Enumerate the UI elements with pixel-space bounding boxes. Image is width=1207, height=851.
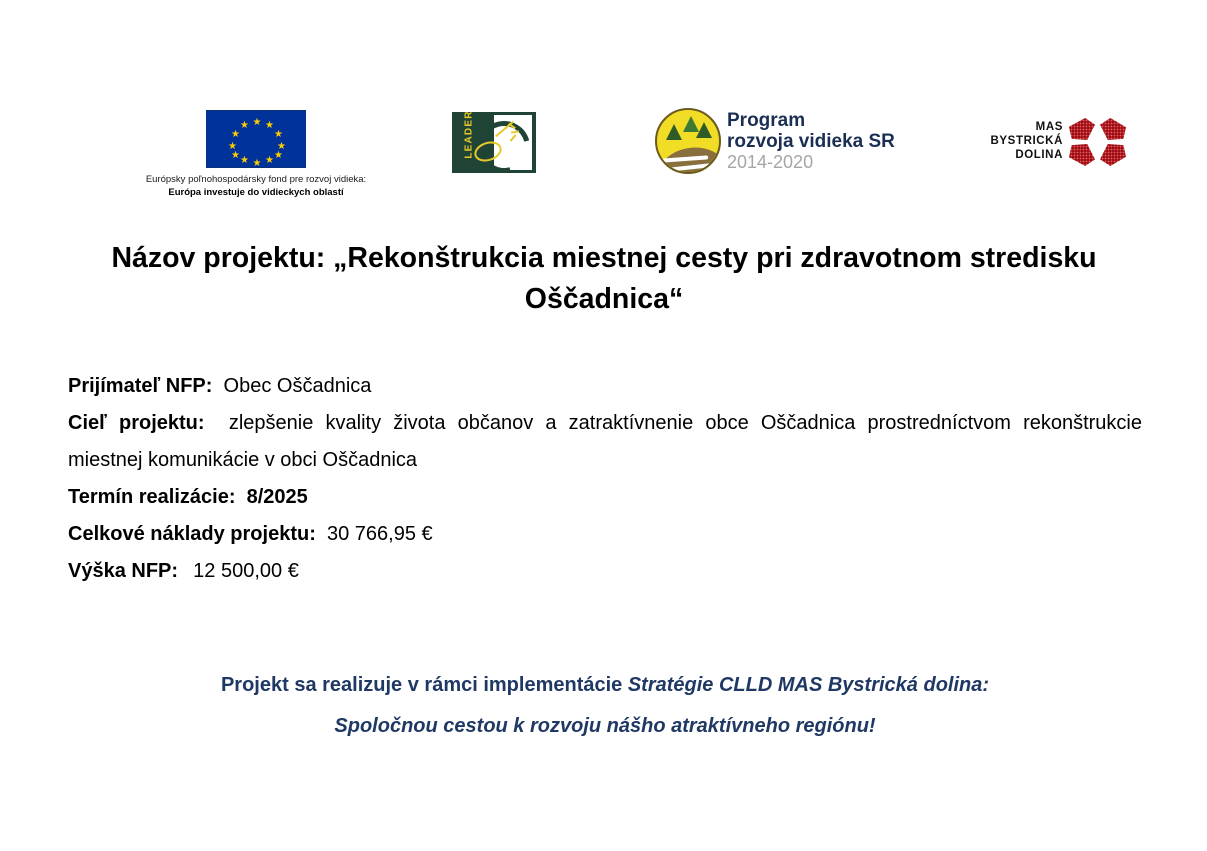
prv-field-shape	[655, 142, 721, 174]
total-cost-label: Celkové náklady projektu:	[68, 523, 321, 545]
prv-line3-years: 2014-2020	[727, 152, 895, 173]
prv-emblem-icon	[655, 108, 721, 174]
goal-value: zlepšenie kvality života občanov a zatra…	[68, 412, 1142, 471]
project-info-page: { "logos": { "eu": { "name": "eu-flag-lo…	[0, 0, 1207, 851]
page-title: Názov projektu: „Rekonštrukcia miestnej …	[68, 238, 1140, 320]
nfp-value: 12 500,00 €	[189, 560, 299, 582]
mas-wordmark: MAS BYSTRICKÁ DOLINA	[955, 120, 1063, 162]
eu-star-icon: ★	[240, 121, 249, 130]
total-cost-row: Celkové náklady projektu: 30 766,95 €	[68, 516, 1142, 553]
recipient-row: Prijímateľ NFP: Obec Oščadnica	[68, 368, 1142, 405]
recipient-value: Obec Oščadnica	[224, 375, 372, 397]
prv-wordmark: Program rozvoja vidieka SR 2014-2020	[727, 110, 895, 173]
eu-logo-block: ★ ★ ★ ★ ★ ★ ★ ★ ★ ★ ★ ★ Európsky poľnoho…	[140, 110, 372, 199]
prv-tree-icon	[696, 122, 712, 138]
eu-star-icon: ★	[265, 121, 274, 130]
goal-row: Cieľ projektu: zlepšenie kvality života …	[68, 405, 1142, 479]
goal-label: Cieľ projektu:	[68, 412, 217, 434]
mas-line2: BYSTRICKÁ	[955, 134, 1063, 148]
leader-wordmark: LEADER	[464, 112, 475, 161]
footer-line-1: Projekt sa realizuje v rámci implementác…	[68, 665, 1142, 706]
prv-tree-icon	[666, 124, 682, 140]
eu-star-icon: ★	[253, 118, 262, 127]
recipient-label: Prijímateľ NFP:	[68, 375, 218, 397]
term-value: 8/2025	[247, 486, 314, 508]
clld-strategy-note: Projekt sa realizuje v rámci implementác…	[68, 665, 1142, 747]
mas-petal-shape	[1069, 118, 1095, 140]
prv-line2: rozvoja vidieka SR	[727, 131, 895, 152]
logo-strip: ★ ★ ★ ★ ★ ★ ★ ★ ★ ★ ★ ★ Európsky poľnoho…	[0, 100, 1207, 200]
mas-petal-shape	[1069, 144, 1095, 166]
leader-logo-icon: LEADER	[452, 112, 536, 173]
eu-flag-icon: ★ ★ ★ ★ ★ ★ ★ ★ ★ ★ ★ ★	[206, 110, 306, 168]
leader-logo-block: LEADER	[452, 112, 536, 173]
eu-star-icon: ★	[253, 159, 262, 168]
mas-petal-shape	[1100, 118, 1126, 140]
mas-line3: DOLINA	[955, 148, 1063, 162]
eu-caption-line1: Európsky poľnohospodársky fond pre rozvo…	[140, 173, 372, 186]
mas-folk-motif-icon	[1067, 114, 1131, 172]
footer-line1-plain: Projekt sa realizuje v rámci implementác…	[221, 674, 628, 696]
eu-star-icon: ★	[228, 142, 237, 151]
prv-furrow-line	[658, 155, 708, 162]
eu-star-icon: ★	[274, 151, 283, 160]
mas-line1: MAS	[955, 120, 1063, 134]
total-cost-value: 30 766,95 €	[327, 523, 433, 545]
mas-petal-shape	[1100, 144, 1126, 166]
prv-line1: Program	[727, 110, 895, 131]
term-label: Termín realizácie:	[68, 486, 241, 508]
eu-star-icon: ★	[265, 156, 274, 165]
nfp-label: Výška NFP:	[68, 560, 184, 582]
prv-furrow-line	[657, 163, 713, 173]
eu-star-icon: ★	[240, 156, 249, 165]
eu-star-icon: ★	[231, 130, 240, 139]
footer-line-2: Spoločnou cestou k rozvoju nášho atraktí…	[68, 706, 1142, 747]
eu-caption-line2: Európa investuje do vidieckych oblastí	[140, 186, 372, 199]
footer-line1-italic: Stratégie CLLD MAS Bystrická dolina:	[628, 674, 989, 696]
eu-star-icon: ★	[274, 130, 283, 139]
project-details: Prijímateľ NFP: Obec Oščadnica Cieľ proj…	[68, 368, 1142, 590]
footer-line2-italic: Spoločnou cestou k rozvoju nášho atraktí…	[334, 715, 875, 737]
term-row: Termín realizácie: 8/2025	[68, 479, 1142, 516]
nfp-amount-row: Výška NFP: 12 500,00 €	[68, 553, 1142, 590]
eu-star-icon: ★	[231, 151, 240, 160]
